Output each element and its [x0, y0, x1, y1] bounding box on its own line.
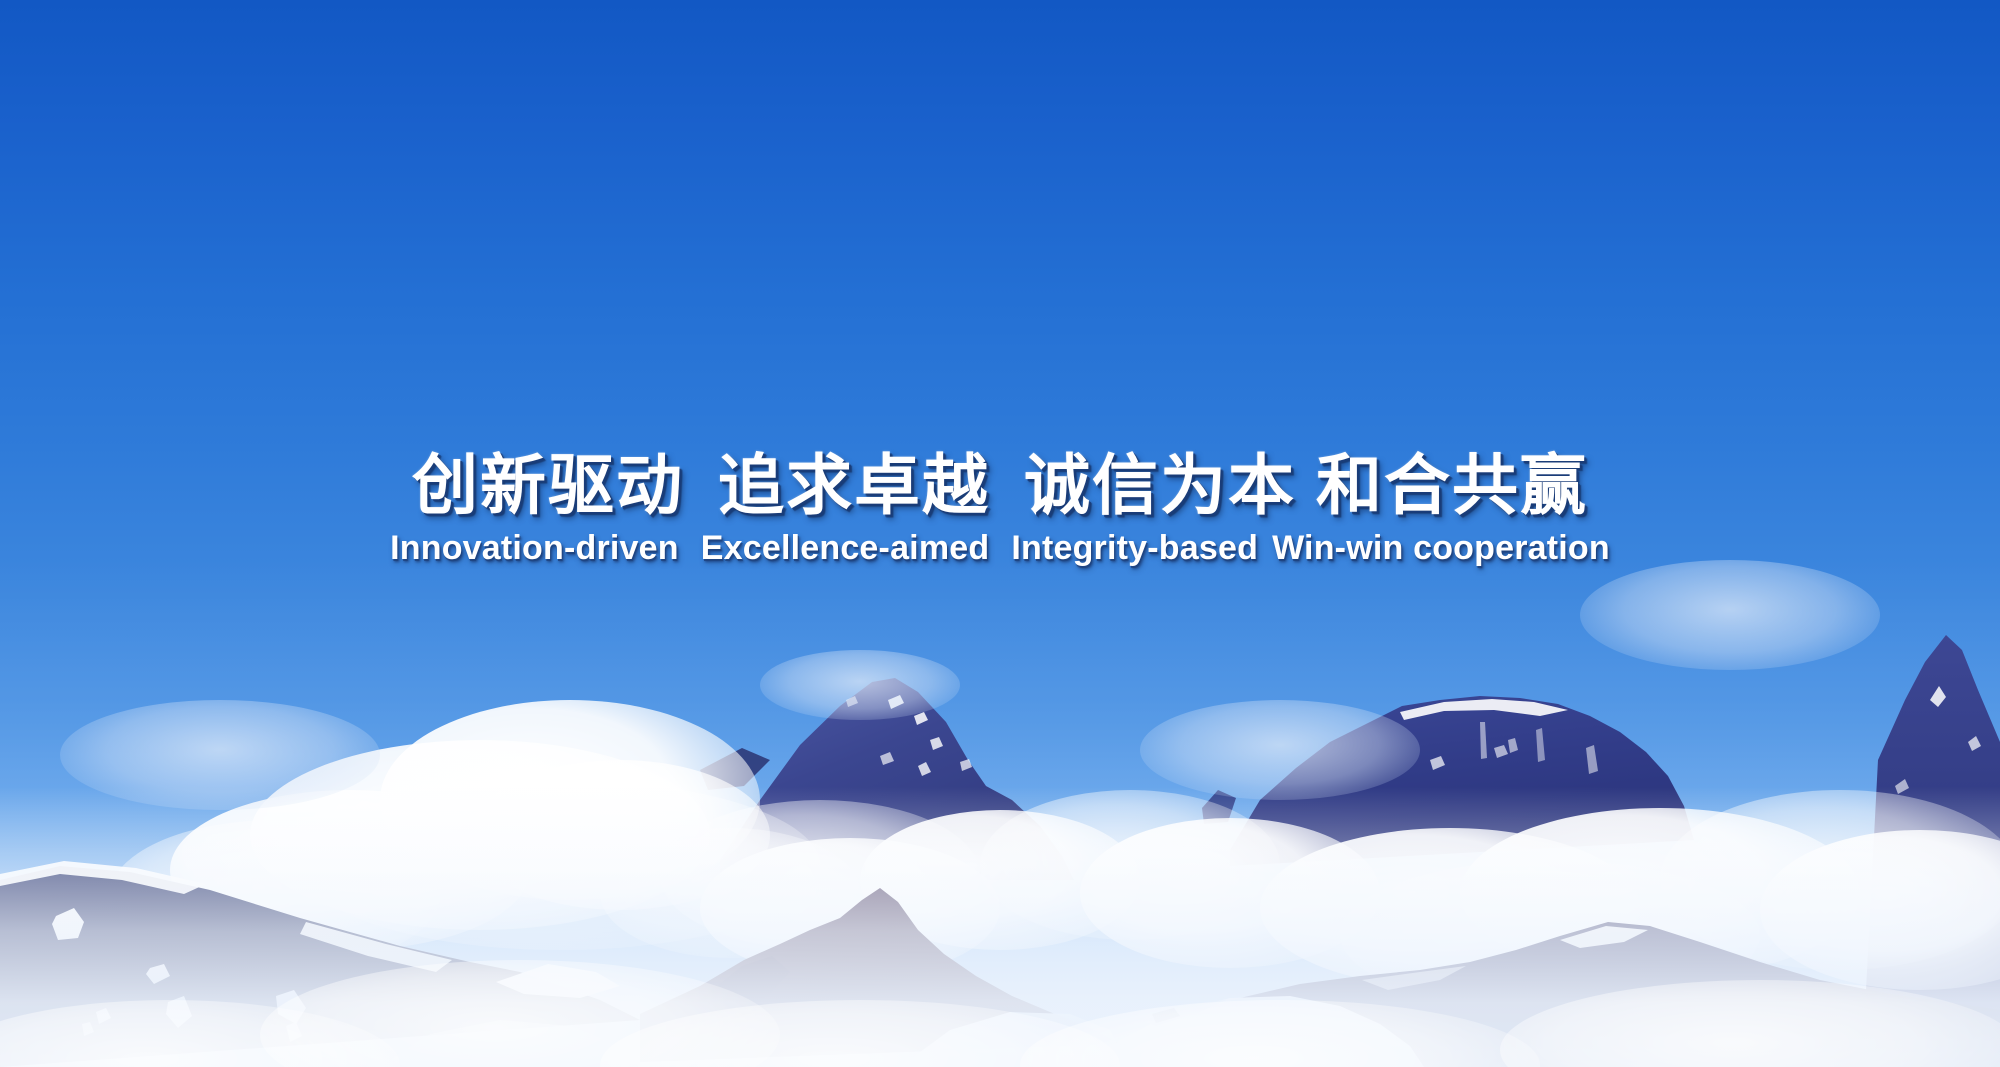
hero-banner: 创新驱动追求卓越诚信为本和合共赢 Innovation-drivenExcell…: [0, 0, 2000, 1067]
foreground-ridges-layer: [0, 0, 2000, 1067]
